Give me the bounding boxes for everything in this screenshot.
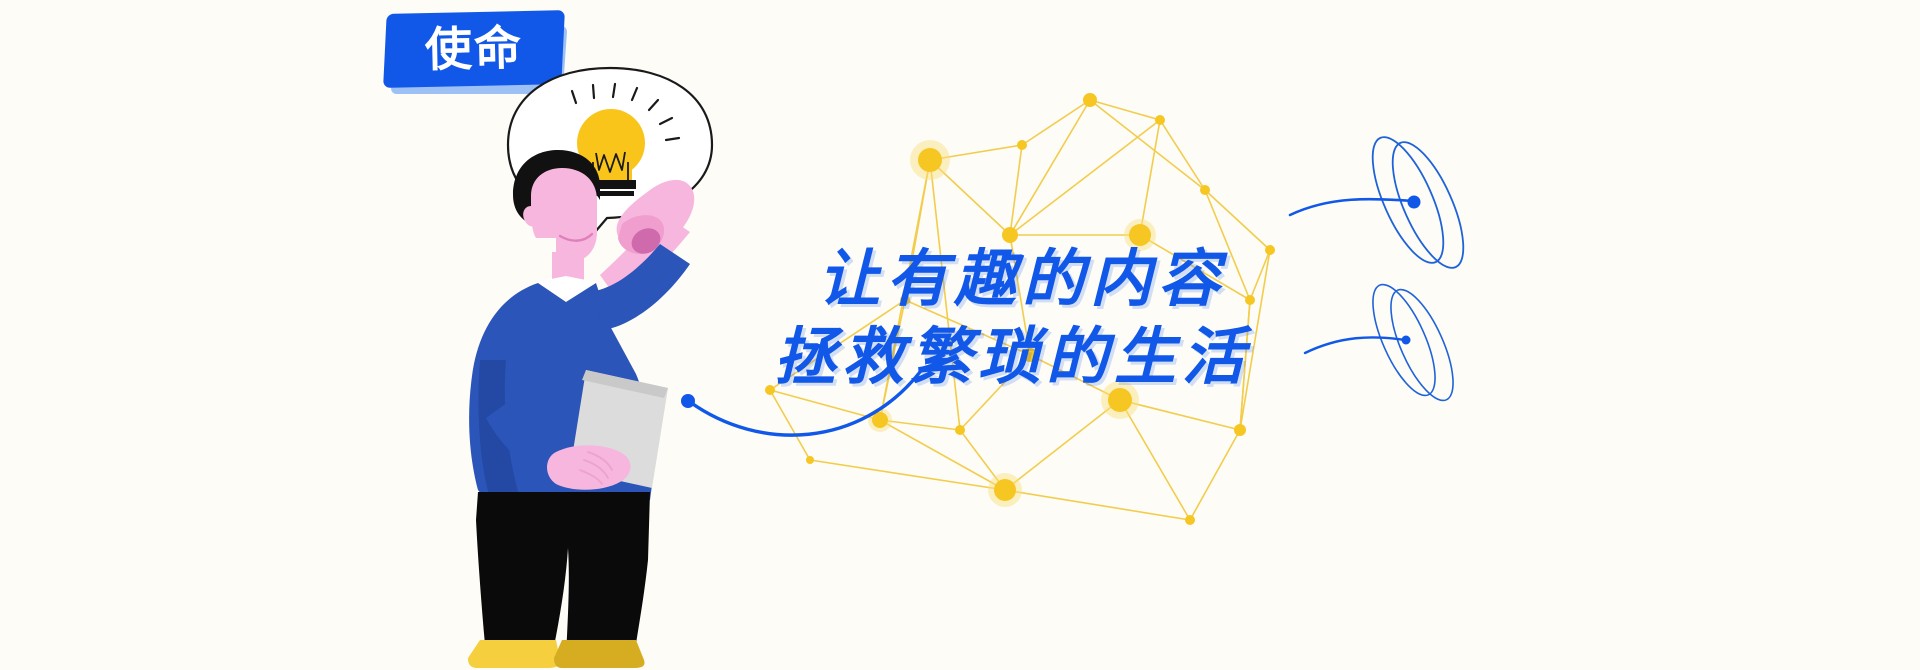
pointing-businessman (468, 150, 694, 668)
illustration (0, 0, 1920, 670)
pants (476, 492, 650, 656)
shoes (468, 640, 645, 668)
head (531, 168, 597, 262)
mission-banner: 使命 让有趣的内容 拯救繁琐的生活 (0, 0, 1920, 670)
